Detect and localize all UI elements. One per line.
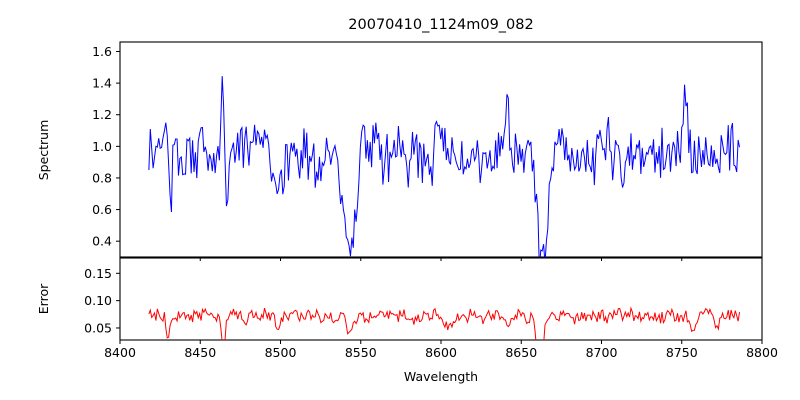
figure-title: 20070410_1124m09_082: [348, 17, 533, 33]
error-panel: 8400845085008550860086508700875088000.05…: [84, 258, 778, 366]
x-tick-label: 8550: [345, 345, 377, 360]
y-tick-label: 0.8: [92, 170, 112, 185]
y-tick-label: 0.15: [84, 266, 112, 281]
y-tick-label: 1.0: [92, 139, 112, 154]
x-tick-label: 8400: [104, 345, 136, 360]
spectrum-axis-label: Spectrum: [36, 120, 51, 181]
wavelength-axis-label: Wavelength: [404, 369, 478, 384]
panel-frame: [120, 42, 762, 257]
figure-canvas: 20070410_1124m09_082 0.40.60.81.01.21.41…: [0, 0, 800, 400]
x-tick-label: 8600: [425, 345, 457, 360]
y-tick-label: 1.2: [92, 107, 112, 122]
y-tick-label: 0.05: [84, 320, 112, 335]
spectrum-data-line: [149, 76, 740, 269]
x-tick-label: 8500: [265, 345, 297, 360]
x-tick-label: 8650: [505, 345, 537, 360]
error-axis-label: Error: [36, 283, 51, 314]
y-tick-label: 0.6: [92, 202, 112, 217]
y-tick-label: 1.6: [92, 44, 112, 59]
y-tick-label: 0.4: [92, 234, 112, 249]
y-tick-label: 1.4: [92, 76, 112, 91]
x-tick-label: 8700: [586, 345, 618, 360]
x-tick-label: 8750: [666, 345, 698, 360]
panel-frame: [120, 258, 762, 340]
matplotlib-figure: 20070410_1124m09_082 0.40.60.81.01.21.41…: [0, 0, 800, 400]
spectrum-panel: 0.40.60.81.01.21.41.6: [92, 42, 762, 270]
x-tick-label: 8450: [184, 345, 216, 360]
x-tick-label: 8800: [746, 345, 778, 360]
y-tick-label: 0.10: [84, 293, 112, 308]
